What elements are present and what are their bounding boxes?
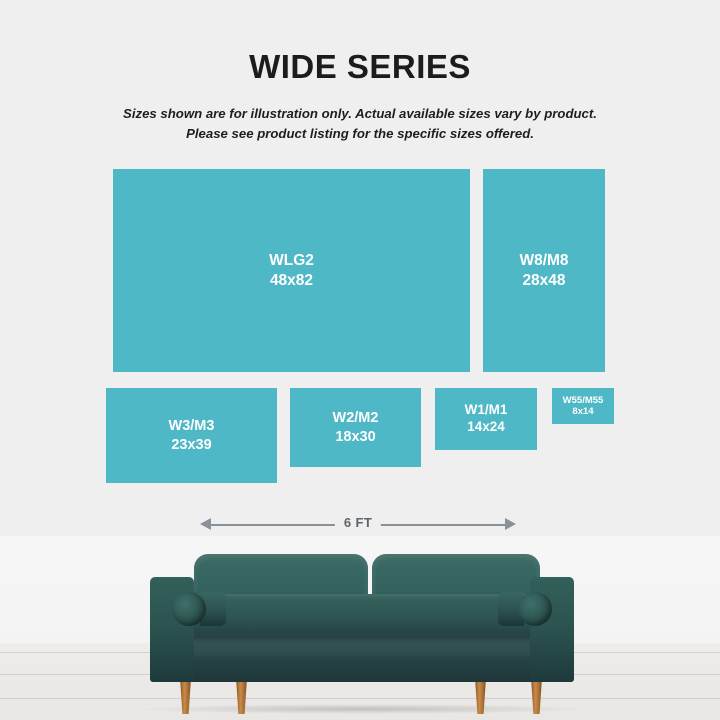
page-subtitle: Sizes shown are for illustration only. A… [50,104,670,145]
subtitle-line-1: Sizes shown are for illustration only. A… [50,104,670,124]
swatch-labels: W8/M8 28x48 [519,251,568,290]
swatch-dimensions: 28x48 [519,271,568,290]
size-swatch-w1-m1[interactable]: W1/M1 14x24 [435,388,537,450]
swatch-code: W1/M1 [465,402,508,419]
size-swatch-wlg2[interactable]: WLG2 48x82 [113,169,470,372]
sofa-illustration [150,538,574,720]
swatch-labels: W1/M1 14x24 [465,402,508,436]
swatch-code: W3/M3 [169,417,215,435]
swatch-labels: W3/M3 23x39 [169,417,215,453]
swatch-code: W55/M55 [563,395,604,406]
sofa-bolster-pillow [172,592,206,626]
swatch-dimensions: 14x24 [465,419,508,436]
sofa-leg [236,678,247,714]
swatch-dimensions: 48x82 [269,271,314,290]
sofa-leg [531,678,542,714]
scale-measure-bar: 6 FT [200,516,516,534]
size-chart-page: WIDE SERIES Sizes shown are for illustra… [0,0,720,720]
subtitle-line-2: Please see product listing for the speci… [50,124,670,144]
swatch-labels: WLG2 48x82 [269,251,314,290]
size-swatch-w2-m2[interactable]: W2/M2 18x30 [290,388,421,467]
sofa-leg [475,678,486,714]
swatch-labels: W2/M2 18x30 [333,409,379,445]
swatch-dimensions: 8x14 [563,406,604,417]
swatch-code: W8/M8 [519,251,568,270]
swatch-dimensions: 23x39 [169,436,215,454]
sofa-leg [180,678,191,714]
swatch-code: W2/M2 [333,409,379,427]
size-swatch-w3-m3[interactable]: W3/M3 23x39 [106,388,277,483]
size-swatch-w8-m8[interactable]: W8/M8 28x48 [483,169,605,372]
size-swatch-w55-m55[interactable]: W55/M55 8x14 [552,388,614,424]
sofa-bolster-pillow [518,592,552,626]
swatch-labels: W55/M55 8x14 [563,395,604,418]
arrow-right-icon [505,518,516,530]
measure-label: 6 FT [335,514,381,531]
swatch-dimensions: 18x30 [333,428,379,446]
sofa-scene [0,536,720,720]
swatch-code: WLG2 [269,251,314,270]
page-title: WIDE SERIES [0,50,720,83]
